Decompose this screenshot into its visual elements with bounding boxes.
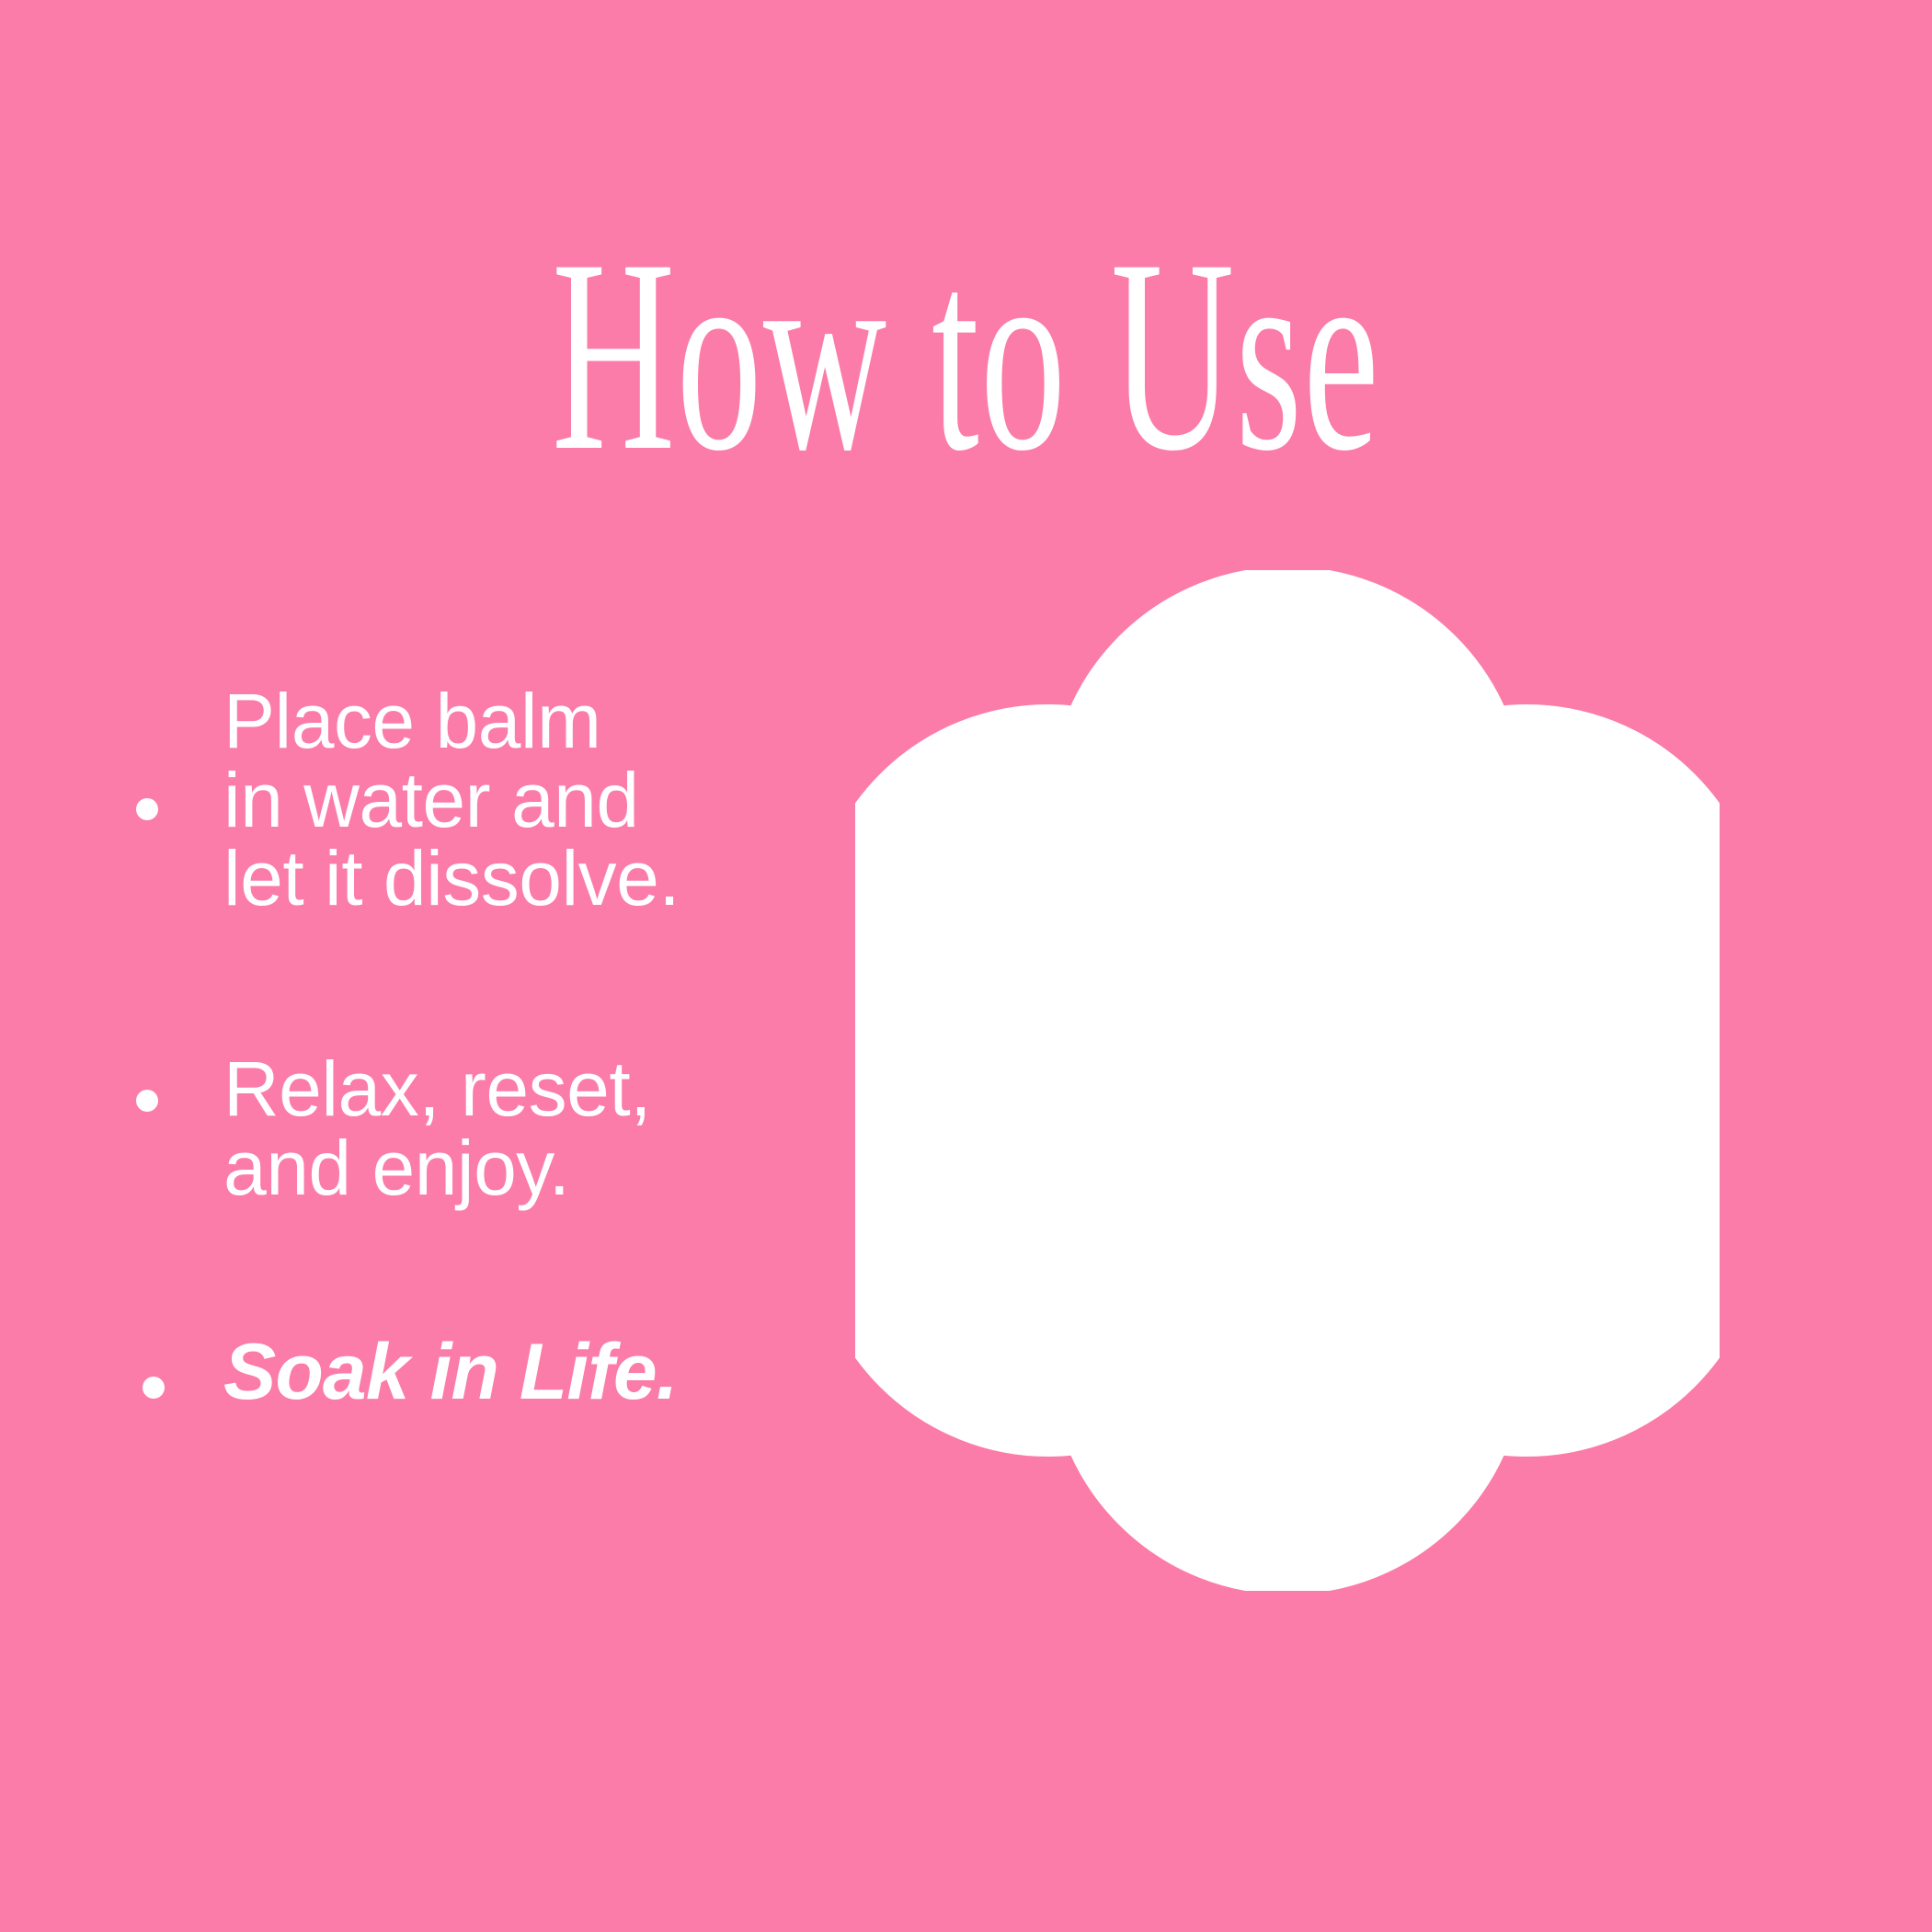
list-item-label: Place balm in water and let it dissolve.: [223, 682, 680, 919]
bullet-point-icon: [136, 798, 158, 820]
bullet-point-icon: [136, 1090, 158, 1112]
instructions-list: Place balm in water and let it dissolve.…: [0, 644, 901, 1526]
sticker-outline: [855, 595, 1720, 1566]
list-item: Soak in Life.: [0, 1301, 901, 1448]
flower-sticker-svg: [855, 570, 1720, 1591]
bullet-point-icon: [143, 1377, 165, 1399]
page-title: How to Use: [367, 217, 1565, 493]
list-item: Place balm in water and let it dissolve.: [0, 644, 901, 938]
list-item-label-emphasis: Soak in Life.: [223, 1332, 678, 1413]
poster-canvas: How to Use Place balm in water and let i…: [0, 0, 1932, 1932]
product-image: [855, 570, 1720, 1591]
list-item-label: Relax, reset, and enjoy.: [223, 1050, 651, 1207]
list-item: Relax, reset, and enjoy.: [0, 1021, 901, 1232]
